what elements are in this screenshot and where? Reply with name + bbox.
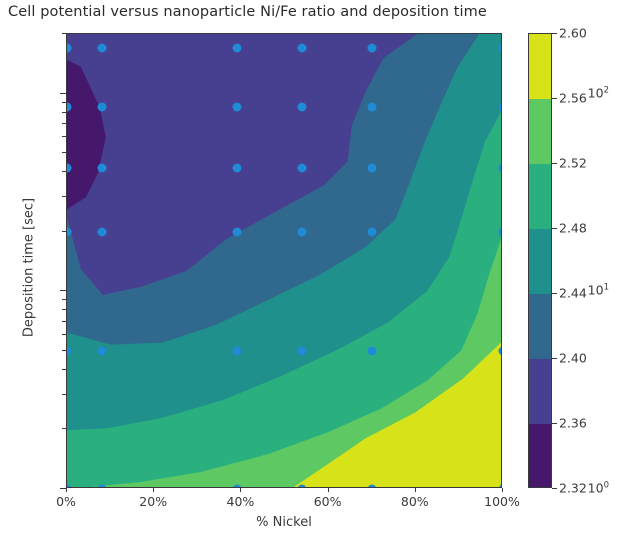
- sample-point: [233, 346, 242, 355]
- sample-point: [298, 164, 307, 173]
- sample-point: [97, 346, 106, 355]
- sample-point: [233, 103, 242, 112]
- sample-point: [233, 227, 242, 236]
- x-tick: [153, 488, 154, 492]
- sample-point: [368, 43, 377, 52]
- x-tick-label: 80%: [401, 494, 429, 509]
- colorbar-band: [529, 229, 551, 294]
- sample-point: [499, 164, 503, 173]
- sample-point: [97, 43, 106, 52]
- y-tick-minor: [62, 299, 66, 300]
- x-tick-label: 60%: [314, 494, 342, 509]
- colorbar-band: [529, 424, 551, 488]
- sample-point: [499, 346, 503, 355]
- x-axis-label: % Nickel: [66, 515, 502, 530]
- colorbar-tick-label: 2.40: [559, 351, 587, 366]
- colorbar-tick: [552, 33, 557, 34]
- sample-point: [368, 103, 377, 112]
- y-tick: [60, 488, 66, 489]
- sample-point: [298, 43, 307, 52]
- colorbar-band: [529, 34, 551, 99]
- x-tick-label: 100%: [484, 494, 520, 509]
- sample-point: [66, 43, 72, 52]
- sample-point: [97, 485, 106, 489]
- x-tick-label: 20%: [139, 494, 167, 509]
- plot-area: [66, 33, 502, 488]
- colorbar-tick: [552, 488, 557, 489]
- x-tick: [502, 488, 503, 492]
- colorbar-tick: [552, 293, 557, 294]
- sample-point-layer: [67, 34, 501, 487]
- y-tick-minor: [62, 112, 66, 113]
- colorbar-tick-label: 2.56: [559, 91, 587, 106]
- colorbar-tick-label: 2.52: [559, 156, 587, 171]
- y-tick-minor: [62, 33, 66, 34]
- x-tick: [328, 488, 329, 492]
- chart-title: Cell potential versus nanoparticle Ni/Fe…: [8, 4, 608, 20]
- colorbar-tick-label: 2.32: [559, 481, 587, 496]
- contour-figure: Cell potential versus nanoparticle Ni/Fe…: [0, 0, 618, 539]
- y-tick-minor: [62, 196, 66, 197]
- y-axis-label: Deposition time [sec]: [22, 153, 37, 383]
- y-tick-minor: [62, 321, 66, 322]
- sample-point: [298, 227, 307, 236]
- x-tick-label: 40%: [226, 494, 254, 509]
- sample-point: [66, 346, 72, 355]
- sample-point: [233, 43, 242, 52]
- colorbar-tick: [552, 163, 557, 164]
- colorbar-band: [529, 359, 551, 424]
- x-tick-label: 0%: [56, 494, 76, 509]
- sample-point: [97, 164, 106, 173]
- colorbar-tick: [552, 423, 557, 424]
- sample-point: [368, 346, 377, 355]
- y-tick-minor: [62, 309, 66, 310]
- sample-point: [66, 164, 72, 173]
- x-tick: [240, 488, 241, 492]
- colorbar-tick: [552, 358, 557, 359]
- sample-point: [499, 103, 503, 112]
- sample-point: [66, 103, 72, 112]
- sample-point: [499, 43, 503, 52]
- colorbar-tick-label: 2.60: [559, 26, 587, 41]
- sample-point: [298, 485, 307, 489]
- y-tick: [60, 93, 66, 94]
- y-tick-minor: [62, 123, 66, 124]
- y-tick-minor: [62, 428, 66, 429]
- sample-point: [233, 164, 242, 173]
- colorbar-tick-label: 2.48: [559, 221, 587, 236]
- sample-point: [97, 103, 106, 112]
- sample-point: [368, 164, 377, 173]
- x-tick: [66, 488, 67, 492]
- y-tick-minor: [62, 231, 66, 232]
- sample-point: [499, 227, 503, 236]
- y-tick-minor: [62, 334, 66, 335]
- sample-point: [298, 103, 307, 112]
- y-tick-minor: [62, 152, 66, 153]
- sample-point: [368, 485, 377, 489]
- colorbar-tick-label: 2.36: [559, 416, 587, 431]
- sample-point: [298, 346, 307, 355]
- sample-point: [97, 227, 106, 236]
- y-tick-minor: [62, 171, 66, 172]
- y-tick-minor: [62, 102, 66, 103]
- colorbar: [528, 33, 552, 488]
- sample-point: [368, 227, 377, 236]
- colorbar-tick-label: 2.44: [559, 286, 587, 301]
- colorbar-band: [529, 294, 551, 359]
- y-tick-minor: [62, 136, 66, 137]
- y-tick-minor: [62, 394, 66, 395]
- colorbar-band: [529, 99, 551, 164]
- sample-point: [66, 227, 72, 236]
- y-tick: [60, 290, 66, 291]
- y-tick-minor: [62, 369, 66, 370]
- colorbar-tick: [552, 98, 557, 99]
- x-tick: [415, 488, 416, 492]
- y-tick-minor: [62, 350, 66, 351]
- colorbar-band: [529, 164, 551, 229]
- colorbar-tick: [552, 228, 557, 229]
